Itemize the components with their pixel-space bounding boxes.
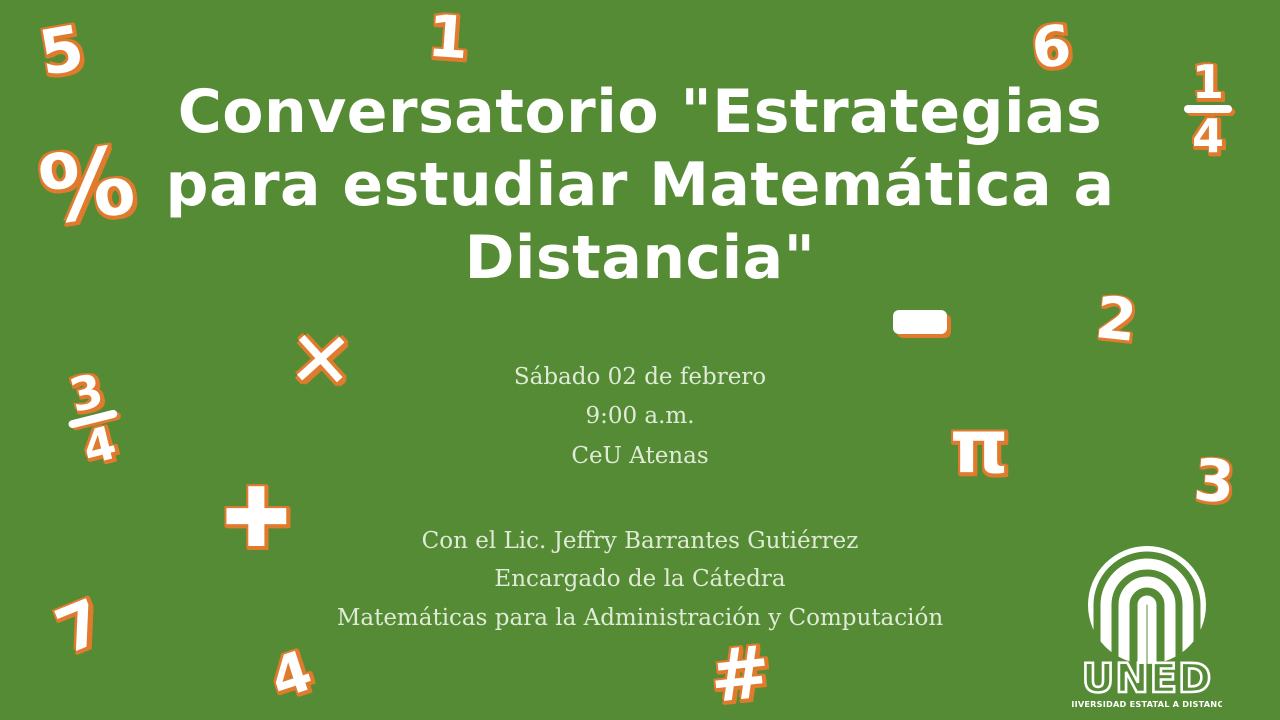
event-time: 9:00 a.m. <box>514 397 766 437</box>
title-line-2: para estudiar Matemática a <box>135 149 1145 222</box>
uned-wordmark-text: UNED <box>1082 656 1212 702</box>
speaker-department: Matemáticas para la Administración y Com… <box>337 599 943 637</box>
page-title: Conversatorio "Estrategias para estudiar… <box>135 76 1145 296</box>
speaker-role: Encargado de la Cátedra <box>337 560 943 598</box>
title-line-3: Distancia" <box>135 222 1145 295</box>
uned-logo: UNED UNIVERSIDAD ESTATAL A DISTANCIA <box>1072 544 1222 712</box>
event-date: Sábado 02 de febrero <box>514 358 766 398</box>
title-line-1: Conversatorio "Estrategias <box>135 76 1145 149</box>
poster-canvas: 5 1 6 % ✕ ✚ 7 4 # 2 3 π 1 4 3 4 Conversa… <box>0 0 1280 720</box>
event-details: Sábado 02 de febrero 9:00 a.m. CeU Atena… <box>514 358 766 477</box>
event-venue: CeU Atenas <box>514 437 766 477</box>
speaker-details: Con el Lic. Jeffry Barrantes Gutiérrez E… <box>337 522 943 637</box>
speaker-name: Con el Lic. Jeffry Barrantes Gutiérrez <box>337 522 943 560</box>
uned-tagline-text: UNIVERSIDAD ESTATAL A DISTANCIA <box>1072 699 1222 709</box>
